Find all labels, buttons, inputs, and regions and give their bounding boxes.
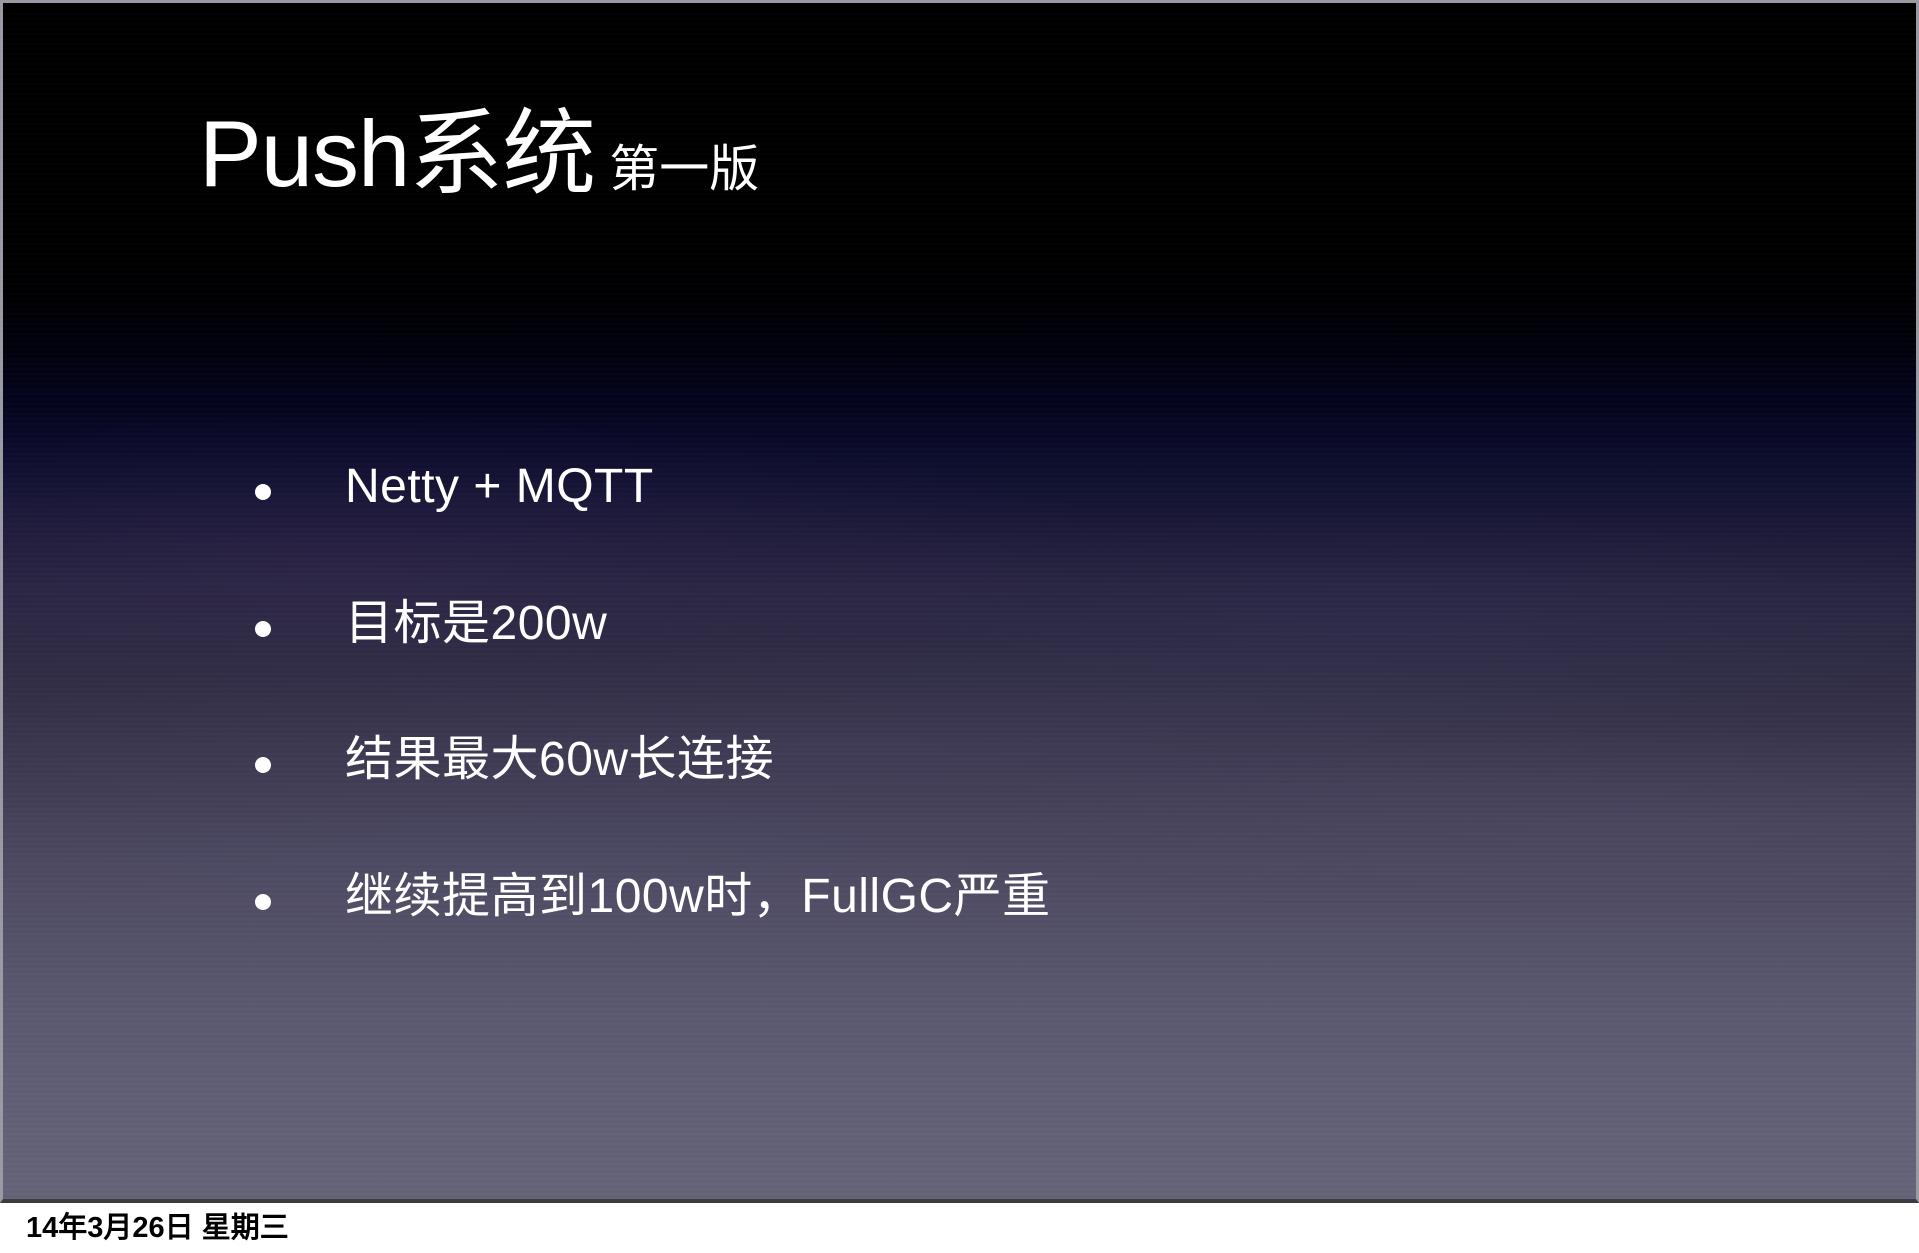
slide-viewer: Push系统 第一版 Netty + MQTT 目标是200w 结果最大60w长… bbox=[0, 0, 1919, 1253]
bullet-item-text: 目标是200w bbox=[345, 595, 607, 654]
bullet-dot-icon bbox=[255, 757, 271, 773]
bullet-item-text: 继续提高到100w时，FullGC严重 bbox=[345, 868, 1051, 927]
presentation-slide: Push系统 第一版 Netty + MQTT 目标是200w 结果最大60w长… bbox=[0, 0, 1919, 1203]
title-main-text: Push系统 bbox=[199, 107, 595, 201]
bullet-dot-icon bbox=[255, 894, 271, 910]
bullet-list: Netty + MQTT 目标是200w 结果最大60w长连接 继续提高到100… bbox=[255, 458, 1815, 926]
bullet-dot-icon bbox=[255, 484, 271, 500]
list-item: 目标是200w bbox=[255, 595, 1815, 654]
bullet-item-text: 结果最大60w长连接 bbox=[345, 731, 774, 790]
title-subtitle-text: 第一版 bbox=[609, 144, 759, 194]
footer-date-text: 14年3月26日 星期三 bbox=[26, 1214, 289, 1243]
list-item: 继续提高到100w时，FullGC严重 bbox=[255, 868, 1815, 927]
bullet-dot-icon bbox=[255, 621, 271, 637]
list-item: Netty + MQTT bbox=[255, 458, 1815, 517]
footer-bar: 14年3月26日 星期三 bbox=[0, 1203, 1919, 1253]
list-item: 结果最大60w长连接 bbox=[255, 731, 1815, 790]
slide-title: Push系统 第一版 bbox=[199, 107, 759, 201]
bullet-item-text: Netty + MQTT bbox=[345, 458, 654, 517]
